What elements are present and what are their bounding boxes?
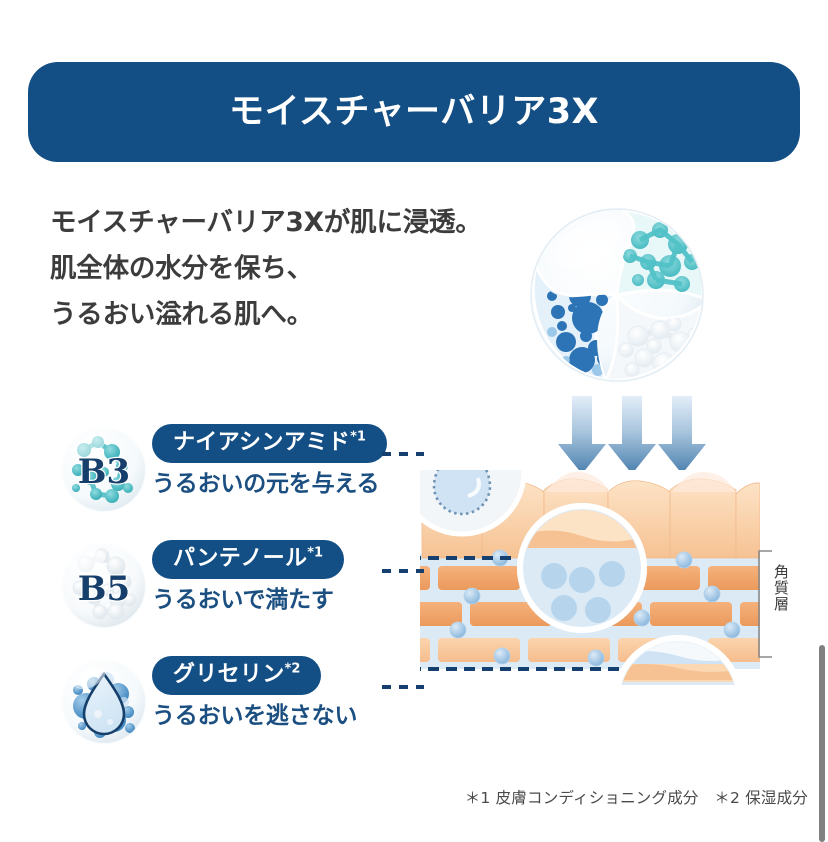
connector-line — [382, 569, 424, 573]
ingredient-pill-footnote-marker: *2 — [285, 662, 301, 677]
b3-letter: B3 — [78, 452, 130, 492]
infographic-canvas: モイスチャーバリア3X モイスチャーバリア3Xが肌に浸透。 肌全体の水分を保ち、… — [0, 0, 828, 842]
footnote-text: ＊1 皮膚コンディショニング成分 ＊2 保湿成分 — [418, 786, 808, 808]
down-arrow-icon — [608, 396, 656, 474]
scrollbar-thumb[interactable] — [819, 645, 825, 842]
ingredient-pill-footnote-marker: *1 — [350, 430, 366, 445]
down-arrow-icon — [558, 396, 606, 474]
corneum-label-text: 角質層 — [770, 564, 790, 612]
penetration-arrow-group — [552, 394, 712, 480]
connector-line — [382, 685, 424, 689]
intro-line-3: うるおい溢れる肌へ。 — [50, 292, 530, 338]
b3-molecule-sphere-icon: B3 — [60, 426, 148, 514]
scrollbar-track[interactable] — [816, 0, 828, 842]
ingredient-row: B3 ナイアシンアミド*1 うるおいの元を与える — [56, 424, 416, 520]
ingredient-pill[interactable]: グリセリン*2 — [152, 656, 321, 695]
ingredient-pill-label: ナイアシンアミド — [173, 430, 350, 455]
ingredient-row: グリセリン*2 うるおいを逃さない — [56, 656, 416, 752]
ingredient-pill-label: グリセリン — [173, 662, 285, 687]
b5-letter: B5 — [78, 569, 130, 609]
page-title: モイスチャーバリア3X — [229, 95, 599, 130]
intro-line-2: 肌全体の水分を保ち、 — [50, 246, 530, 292]
ingredient-pill-label: パンテノール — [173, 546, 307, 571]
ingredient-caption: うるおいで満たす — [152, 587, 422, 615]
ingredient-pill[interactable]: ナイアシンアミド*1 — [152, 424, 387, 463]
down-arrow-icon — [658, 396, 706, 474]
tri-lobe-capsule-sphere-icon — [522, 200, 712, 390]
ingredient-pill-footnote-marker: *1 — [307, 546, 323, 561]
header-banner: モイスチャーバリア3X — [28, 62, 800, 162]
ingredient-caption: うるおいを逃さない — [152, 703, 422, 731]
skin-cross-section-icon — [420, 470, 760, 685]
glycerin-droplet-sphere-icon — [60, 658, 148, 746]
corneum-bracket-label: 角質層 — [756, 548, 804, 660]
ingredient-text-column: グリセリン*2 うるおいを逃さない — [152, 656, 422, 731]
b5-molecule-sphere-icon: B5 — [60, 542, 148, 630]
connector-line — [382, 452, 424, 456]
intro-paragraph: モイスチャーバリア3Xが肌に浸透。 肌全体の水分を保ち、 うるおい溢れる肌へ。 — [50, 200, 530, 338]
ingredient-text-column: ナイアシンアミド*1 うるおいの元を与える — [152, 424, 422, 499]
ingredient-row: B5 パンテノール*1 うるおいで満たす — [56, 540, 416, 636]
intro-line-1: モイスチャーバリア3Xが肌に浸透。 — [50, 200, 530, 246]
ingredient-caption: うるおいの元を与える — [152, 471, 422, 499]
ingredient-pill[interactable]: パンテノール*1 — [152, 540, 344, 579]
ingredient-text-column: パンテノール*1 うるおいで満たす — [152, 540, 422, 615]
